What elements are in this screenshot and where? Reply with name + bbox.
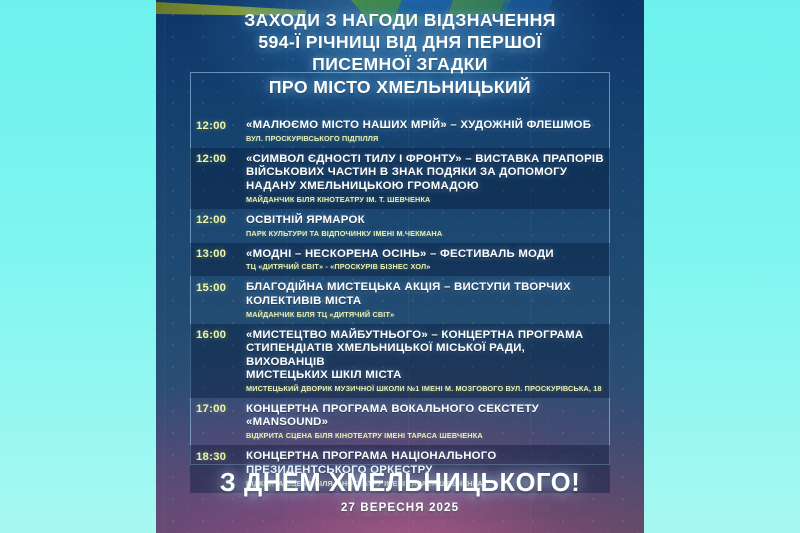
footer-greeting: З ДНЕМ ХМЕЛЬНИЦЬКОГО!: [156, 469, 644, 498]
event-title-line: КОНЦЕРТНА ПРОГРАМА ВОКАЛЬНОГО СЕКСТЕТУ: [246, 403, 604, 416]
event-title-line: «MANSOUND»: [246, 416, 604, 429]
event-title-line: ОСВІТНІЙ ЯРМАРОК: [246, 214, 604, 227]
event-title-line: «МИСТЕЦТВО МАЙБУТНЬОГО» – КОНЦЕРТНА ПРОГ…: [246, 329, 604, 342]
event-row: 12:00«СИМВОЛ ЄДНОСТІ ТИЛУ І ФРОНТУ» – ВИ…: [190, 148, 610, 209]
event-venue: ПАРК КУЛЬТУРИ ТА ВІДПОЧИНКУ ІМЕНІ М.ЧЕКМ…: [246, 229, 604, 238]
event-title-line: БЛАГОДІЙНА МИСТЕЦЬКА АКЦІЯ – ВИСТУПИ ТВО…: [246, 281, 604, 294]
event-title-line: КОЛЕКТИВІВ МІСТА: [246, 295, 604, 308]
event-time: 17:00: [196, 403, 240, 417]
poster-stage: ЗАХОДИ З НАГОДИ ВІДЗНАЧЕННЯ594-Ї РІЧНИЦІ…: [0, 0, 800, 533]
page-title: ЗАХОДИ З НАГОДИ ВІДЗНАЧЕННЯ594-Ї РІЧНИЦІ…: [156, 9, 644, 98]
footer: З ДНЕМ ХМЕЛЬНИЦЬКОГО! 27 ВЕРЕСНЯ 2025: [156, 469, 644, 515]
event-venue: МИСТЕЦЬКИЙ ДВОРИК МУЗИЧНОЇ ШКОЛИ №1 ІМЕН…: [246, 384, 604, 393]
event-time: 13:00: [196, 248, 240, 262]
page-title-line: ПРО МІСТО ХМЕЛЬНИЦЬКИЙ: [156, 76, 644, 98]
event-title-line: «МОДНІ – НЕСКОРЕНА ОСІНЬ» – ФЕСТИВАЛЬ МО…: [246, 248, 604, 261]
event-row: 15:00БЛАГОДІЙНА МИСТЕЦЬКА АКЦІЯ – ВИСТУП…: [190, 276, 610, 323]
page-title-line: 594-Ї РІЧНИЦІ ВІД ДНЯ ПЕРШОЇ: [156, 31, 644, 53]
event-row: 12:00«МАЛЮЄМО МІСТО НАШИХ МРІЙ» – ХУДОЖН…: [190, 114, 610, 148]
event-time: 16:00: [196, 329, 240, 343]
event-body: «МОДНІ – НЕСКОРЕНА ОСІНЬ» – ФЕСТИВАЛЬ МО…: [240, 248, 604, 272]
event-venue: ТЦ «ДИТЯЧИЙ СВІТ» - «ПРОСКУРІВ БІЗНЕС ХО…: [246, 262, 604, 271]
event-row: 13:00«МОДНІ – НЕСКОРЕНА ОСІНЬ» – ФЕСТИВА…: [190, 243, 610, 277]
event-body: ОСВІТНІЙ ЯРМАРОКПАРК КУЛЬТУРИ ТА ВІДПОЧИ…: [240, 214, 604, 238]
event-title-line: ВІЙСЬКОВИХ ЧАСТИН В ЗНАК ПОДЯКИ ЗА ДОПОМ…: [246, 166, 604, 179]
event-title-line: МИСТЕЦЬКИХ ШКІЛ МІСТА: [246, 369, 604, 382]
event-row: 17:00КОНЦЕРТНА ПРОГРАМА ВОКАЛЬНОГО СЕКСТ…: [190, 398, 610, 445]
event-body: «МИСТЕЦТВО МАЙБУТНЬОГО» – КОНЦЕРТНА ПРОГ…: [240, 329, 604, 393]
poster-panel: ЗАХОДИ З НАГОДИ ВІДЗНАЧЕННЯ594-Ї РІЧНИЦІ…: [156, 0, 644, 533]
event-body: «МАЛЮЄМО МІСТО НАШИХ МРІЙ» – ХУДОЖНІЙ ФЛ…: [240, 119, 604, 143]
event-body: КОНЦЕРТНА ПРОГРАМА ВОКАЛЬНОГО СЕКСТЕТУ«M…: [240, 403, 604, 440]
event-row: 16:00«МИСТЕЦТВО МАЙБУТНЬОГО» – КОНЦЕРТНА…: [190, 324, 610, 398]
event-title-line: «МАЛЮЄМО МІСТО НАШИХ МРІЙ» – ХУДОЖНІЙ ФЛ…: [246, 119, 604, 132]
event-venue: МАЙДАНЧИК БІЛЯ ТЦ «ДИТЯЧИЙ СВІТ»: [246, 310, 604, 319]
event-venue: МАЙДАНЧИК БІЛЯ КІНОТЕАТРУ ІМ. Т. ШЕВЧЕНК…: [246, 195, 604, 204]
page-title-line: ПИСЕМНОЇ ЗГАДКИ: [156, 53, 644, 75]
event-title-line: НАДАНУ ХМЕЛЬНИЦЬКОЮ ГРОМАДОЮ: [246, 180, 604, 193]
page-title-line: ЗАХОДИ З НАГОДИ ВІДЗНАЧЕННЯ: [156, 9, 644, 31]
event-time: 12:00: [196, 214, 240, 228]
event-time: 12:00: [196, 153, 240, 167]
schedule-list: 12:00«МАЛЮЄМО МІСТО НАШИХ МРІЙ» – ХУДОЖН…: [190, 114, 610, 493]
event-title-line: СТИПЕНДІАТІВ ХМЕЛЬНИЦЬКОЇ МІСЬКОЇ РАДИ, …: [246, 342, 604, 369]
event-body: БЛАГОДІЙНА МИСТЕЦЬКА АКЦІЯ – ВИСТУПИ ТВО…: [240, 281, 604, 318]
event-title-line: КОНЦЕРТНА ПРОГРАМА НАЦІОНАЛЬНОГО: [246, 450, 604, 463]
event-venue: ВІДКРИТА СЦЕНА БІЛЯ КІНОТЕАТРУ ІМЕНІ ТАР…: [246, 431, 604, 440]
event-row: 12:00ОСВІТНІЙ ЯРМАРОКПАРК КУЛЬТУРИ ТА ВІ…: [190, 209, 610, 243]
event-time: 12:00: [196, 119, 240, 133]
event-time: 18:30: [196, 450, 240, 464]
event-time: 15:00: [196, 281, 240, 295]
event-body: «СИМВОЛ ЄДНОСТІ ТИЛУ І ФРОНТУ» – ВИСТАВК…: [240, 153, 604, 204]
footer-date: 27 ВЕРЕСНЯ 2025: [156, 501, 644, 515]
event-venue: ВУЛ. ПРОСКУРІВСЬКОГО ПІДПІЛЛЯ: [246, 134, 604, 143]
event-title-line: «СИМВОЛ ЄДНОСТІ ТИЛУ І ФРОНТУ» – ВИСТАВК…: [246, 153, 604, 166]
